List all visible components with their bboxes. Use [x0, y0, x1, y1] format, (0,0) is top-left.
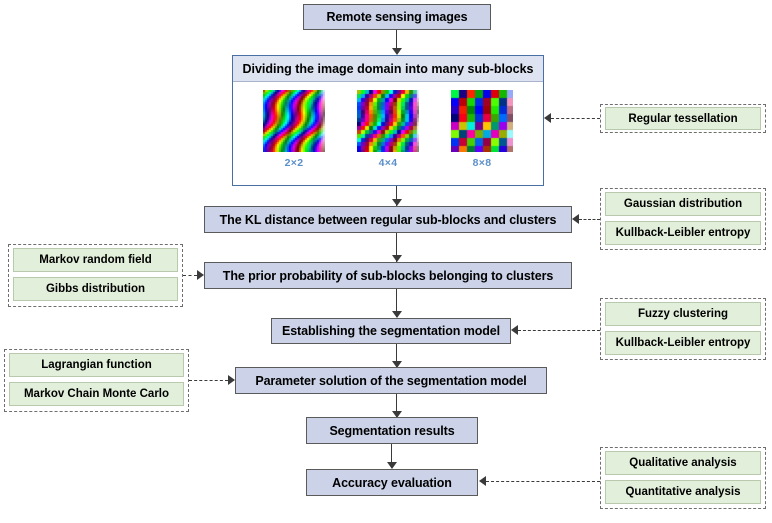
annotation-box-markov-random-field[interactable]: Markov random field — [13, 248, 178, 272]
arrowhead-prior-probability — [197, 270, 204, 280]
annotation-box-kullback-leibler-entropy[interactable]: Kullback-Leibler entropy — [605, 221, 761, 245]
thumbnail-image-2x2 — [263, 90, 325, 152]
connector-tessellation — [551, 118, 600, 119]
annotation-box-markov-chain-monte-carlo[interactable]: Markov Chain Monte Carlo — [9, 382, 184, 406]
thumbnail-image-8x8 — [451, 90, 513, 152]
connector-kl-distance — [579, 219, 600, 220]
annotation-label: Gibbs distribution — [46, 283, 145, 295]
annotation-label: Lagrangian function — [41, 359, 152, 371]
panel-dividing-image-domain[interactable]: Dividing the image domain into many sub-… — [232, 55, 544, 186]
thumbnail-item[interactable]: 2×2 — [263, 90, 325, 169]
thumbnail-item[interactable]: 8×8 — [451, 90, 513, 169]
arrowhead-step1-step2 — [392, 48, 402, 55]
process-label: Segmentation results — [329, 424, 454, 438]
process-label: Establishing the segmentation model — [282, 324, 500, 338]
annotation-label: Kullback-Leibler entropy — [616, 337, 751, 349]
connector-segmentation-model — [518, 330, 600, 331]
annotation-label: Qualitative analysis — [629, 457, 736, 469]
connector-step1-step2 — [396, 30, 397, 50]
process-label: The KL distance between regular sub-bloc… — [220, 213, 557, 227]
thumbnail-label: 8×8 — [473, 157, 492, 169]
annotation-label: Markov Chain Monte Carlo — [24, 388, 169, 400]
process-box-remote-sensing-images[interactable]: Remote sensing images — [303, 4, 491, 30]
thumbnail-label: 2×2 — [285, 157, 304, 169]
process-label: Parameter solution of the segmentation m… — [255, 374, 526, 388]
process-label: Accuracy evaluation — [332, 476, 452, 490]
process-box-segmentation-results[interactable]: Segmentation results — [306, 417, 478, 444]
arrowhead-tessellation — [544, 113, 551, 123]
annotation-box-regular-tessellation[interactable]: Regular tessellation — [605, 107, 761, 130]
thumbnail-label: 4×4 — [379, 157, 398, 169]
connector-accuracy — [486, 481, 600, 482]
process-box-prior-probability[interactable]: The prior probability of sub-blocks belo… — [204, 262, 572, 289]
flowchart-canvas: Remote sensing images Dividing the image… — [0, 0, 772, 523]
process-box-kl-distance[interactable]: The KL distance between regular sub-bloc… — [204, 206, 572, 233]
annotation-box-quantitative-analysis[interactable]: Quantitative analysis — [605, 480, 761, 504]
annotation-box-fuzzy-clustering[interactable]: Fuzzy clustering — [605, 302, 761, 326]
annotation-label: Markov random field — [39, 254, 151, 266]
annotation-label: Kullback-Leibler entropy — [616, 227, 751, 239]
annotation-box-lagrangian-function[interactable]: Lagrangian function — [9, 353, 184, 377]
annotation-label: Fuzzy clustering — [638, 308, 728, 320]
process-label: Remote sensing images — [326, 10, 467, 24]
arrowhead-parameter-solution — [228, 375, 235, 385]
annotation-label: Gaussian distribution — [624, 198, 742, 210]
panel-header: Dividing the image domain into many sub-… — [233, 56, 543, 82]
annotation-box-qualitative-analysis[interactable]: Qualitative analysis — [605, 451, 761, 475]
connector-prior-probability — [183, 275, 197, 276]
arrowhead-segmentation-model — [511, 325, 518, 335]
arrowhead-step2-step3 — [392, 199, 402, 206]
arrowhead-step4-step5 — [392, 311, 402, 318]
process-label: The prior probability of sub-blocks belo… — [223, 269, 553, 283]
thumbnail-item[interactable]: 4×4 — [357, 90, 419, 169]
arrowhead-step7-step8 — [387, 462, 397, 469]
annotation-box-gibbs-distribution[interactable]: Gibbs distribution — [13, 277, 178, 301]
annotation-label: Regular tessellation — [628, 113, 737, 125]
annotation-box-gaussian-distribution[interactable]: Gaussian distribution — [605, 192, 761, 216]
process-box-parameter-solution[interactable]: Parameter solution of the segmentation m… — [235, 367, 547, 394]
annotation-label: Quantitative analysis — [625, 486, 740, 498]
annotation-box-kl-entropy-model[interactable]: Kullback-Leibler entropy — [605, 331, 761, 355]
connector-parameter-solution — [189, 380, 228, 381]
process-box-accuracy-evaluation[interactable]: Accuracy evaluation — [306, 469, 478, 496]
thumbnail-row: 2×2 4×4 8×8 — [233, 82, 543, 169]
arrowhead-accuracy — [479, 476, 486, 486]
arrowhead-kl-distance — [572, 214, 579, 224]
thumbnail-image-4x4 — [357, 90, 419, 152]
process-box-establishing-segmentation-model[interactable]: Establishing the segmentation model — [271, 318, 511, 344]
arrowhead-step3-step4 — [392, 255, 402, 262]
